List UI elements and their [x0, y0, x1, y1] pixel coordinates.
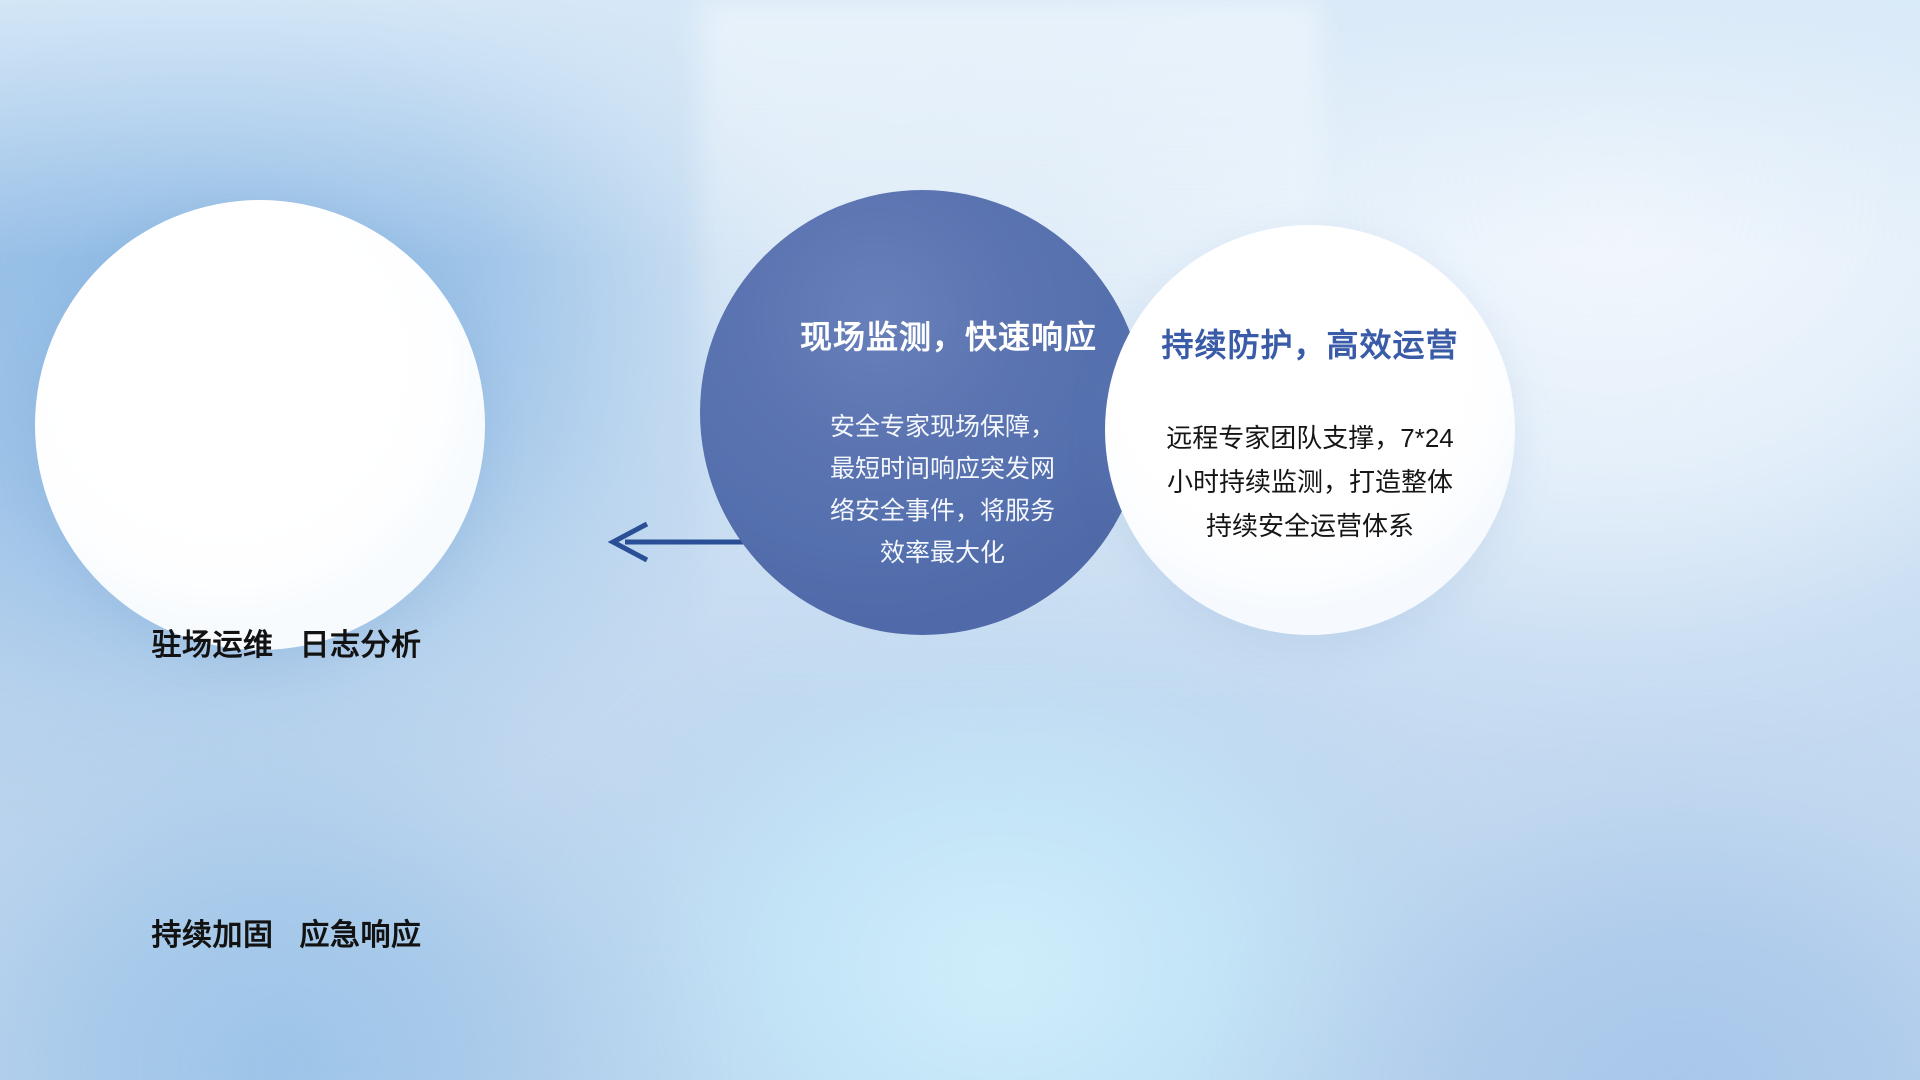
- capability-list: 驻场运维日志分析 持续加固应急响应 意识培训: [98, 443, 421, 1080]
- circle-onsite-monitoring[interactable]: 现场监测，快速响应 安全专家现场保障， 最短时间响应突发网 络安全事件，将服务 …: [700, 190, 1145, 635]
- capability-row-2: 持续加固应急响应: [98, 849, 421, 1023]
- capability-item: 日志分析: [300, 629, 422, 662]
- circle-title: 持续防护，高效运营: [1161, 320, 1458, 366]
- circle-onsite-capabilities[interactable]: 驻场运维日志分析 持续加固应急响应 意识培训: [35, 200, 485, 650]
- capability-item: 持续加固: [152, 919, 274, 952]
- capability-row-1: 驻场运维日志分析: [98, 559, 421, 733]
- capability-item: 应急响应: [300, 919, 422, 952]
- circle-body-text: 安全专家现场保障， 最短时间响应突发网 络安全事件，将服务 效率最大化: [803, 406, 1083, 574]
- circle-title: 现场监测，快速响应: [800, 312, 1097, 358]
- capability-item: 驻场运维: [152, 629, 274, 662]
- circle-body-text: 远程专家团队支撑，7*24 小时持续监测，打造整体 持续安全运营体系: [1130, 416, 1490, 548]
- circle-continuous-protection[interactable]: 持续防护，高效运营 远程专家团队支撑，7*24 小时持续监测，打造整体 持续安全…: [1105, 225, 1515, 635]
- background-blob-bottom-right: [1220, 700, 1920, 1080]
